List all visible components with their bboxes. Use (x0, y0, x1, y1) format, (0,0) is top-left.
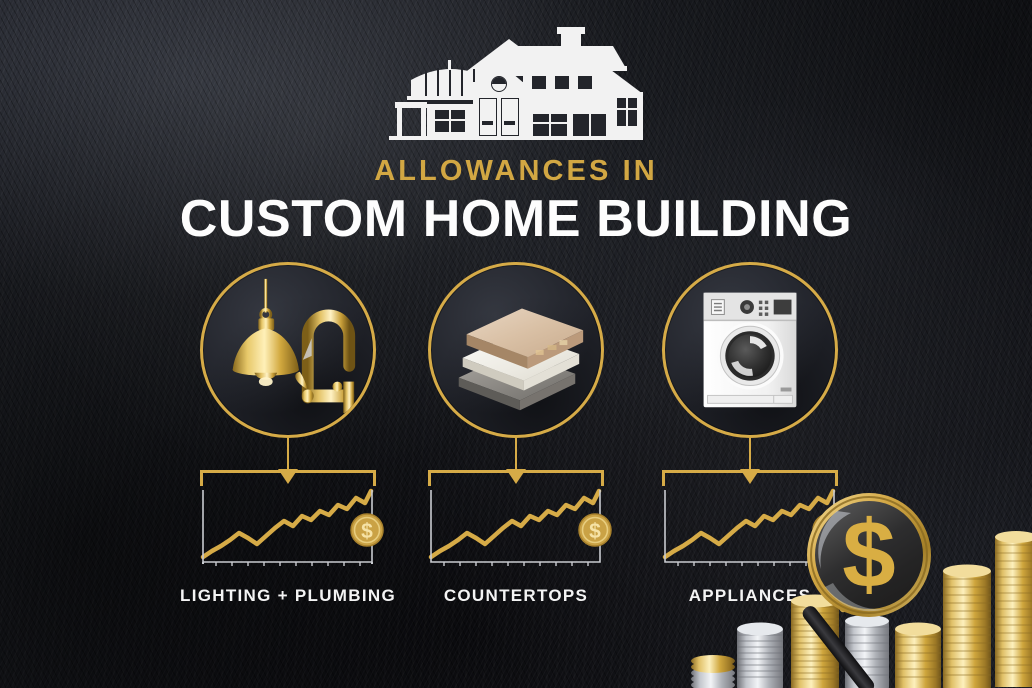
stone-slab-stack-icon (428, 262, 604, 438)
dollar-coin-badge: $ (573, 508, 617, 552)
washing-machine-icon (662, 262, 838, 438)
svg-text:$: $ (589, 520, 601, 543)
category-label: LIGHTING + PLUMBING (163, 586, 413, 606)
arrow-down-icon (506, 469, 526, 484)
connector-stem (287, 438, 290, 470)
category-label: COUNTERTOPS (391, 586, 641, 606)
svg-text:$: $ (361, 520, 373, 543)
bracket-connector (200, 470, 376, 486)
pendant-light-and-faucet-icon (200, 262, 376, 438)
infographic-poster: ALLOWANCES IN CUSTOM HOME BUILDING (0, 0, 1032, 688)
coin-stacks-icon: $ (691, 479, 1032, 688)
house-icon (381, 22, 651, 144)
magnifying-glass-dollar-icon: $ (807, 493, 931, 617)
bracket-connector (428, 470, 604, 486)
svg-text:$: $ (842, 501, 895, 608)
arrow-down-icon (278, 469, 298, 484)
dollar-coin-badge: $ (345, 508, 389, 552)
connector-stem (515, 438, 518, 470)
trend-chart-countertops: $ (428, 486, 604, 570)
poster-kicker: ALLOWANCES IN (0, 155, 1032, 187)
page-title: CUSTOM HOME BUILDING (0, 189, 1032, 249)
category-column-countertops: $ COUNTERTOPS (391, 262, 641, 606)
category-column-lighting-plumbing: $ LIGHTING + PLUMBING (163, 262, 413, 606)
connector-stem (749, 438, 752, 470)
trend-chart-lighting-plumbing: $ (200, 486, 376, 570)
